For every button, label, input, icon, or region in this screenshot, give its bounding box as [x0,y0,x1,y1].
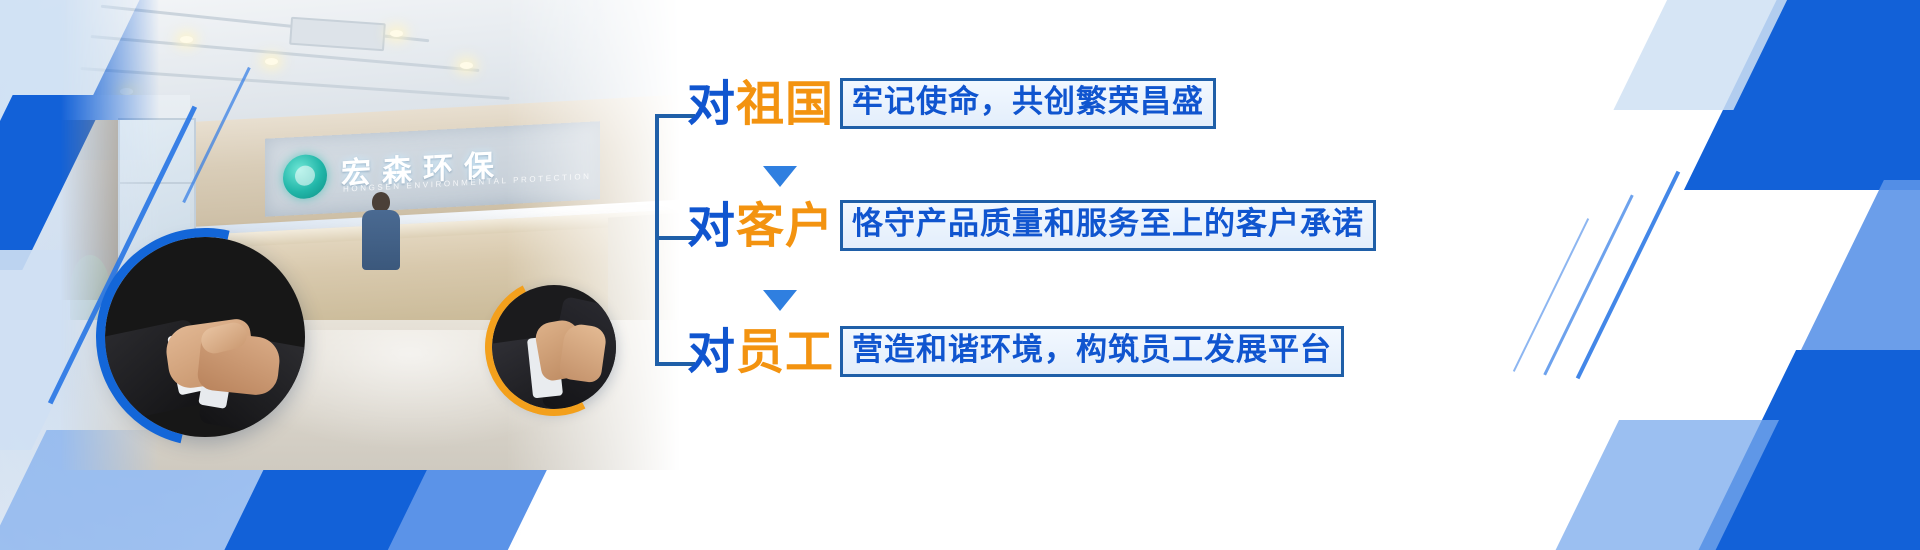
decor-polygon-midblue-bottom [373,470,547,550]
handshake-photo-bubble [105,237,305,437]
value-statement-employee: 营造和谐环境，构筑员工发展平台 [852,332,1332,368]
value-statement-customer: 恪守产品质量和服务至上的客户承诺 [852,206,1364,242]
photo-receptionist-head [372,192,390,212]
value-prefix-country: 对 [687,80,736,128]
photo-receptionist [360,192,402,270]
value-statement-box-country: 牢记使命，共创繁荣昌盛 [840,78,1216,129]
down-arrow-icon [763,166,797,187]
value-prefix-employee: 对 [687,328,736,376]
applause-hand-right [558,322,607,383]
decor-polygon-right-top-blue [1684,0,1920,190]
decor-right-line-2 [1543,194,1633,375]
photo-plant [70,255,110,325]
photo-downlight [120,88,133,95]
value-row-customer: 对客户 恪守产品质量和服务至上的客户承诺 [687,200,1376,251]
photo-downlight [390,30,403,37]
value-target-country: 祖国 [736,80,834,128]
company-logo-icon [283,154,327,200]
decor-right-line-3 [1513,218,1589,372]
photo-downlight [265,58,278,65]
company-values-banner: 宏森环保 HONGSEN ENVIRONMENTAL PROTECTION [0,0,1920,550]
decor-right-line-1 [1576,171,1680,379]
decor-polygon-right-mid [1796,180,1920,360]
value-statement-box-customer: 恪守产品质量和服务至上的客户承诺 [840,200,1376,251]
decor-polygon-right-bottom-blue [1684,350,1920,550]
value-prefix-customer: 对 [687,202,736,250]
bracket-spine [655,116,659,364]
values-content-block: 对祖国 牢记使命，共创繁荣昌盛 对客户 恪守产品质量和服务至上的客户承诺 对员工… [655,78,1395,398]
value-row-employee: 对员工 营造和谐环境，构筑员工发展平台 [687,326,1344,377]
decor-polygon-right-top-pale [1613,0,1806,110]
photo-downlight [460,62,473,69]
photo-downlight [180,36,193,43]
value-target-employee: 员工 [736,328,834,376]
value-statement-country: 牢记使命，共创繁荣昌盛 [852,84,1204,120]
photo-receptionist-body [362,210,400,270]
value-statement-box-employee: 营造和谐环境，构筑员工发展平台 [840,326,1344,377]
applause-photo-bubble [492,285,616,409]
down-arrow-icon [763,290,797,311]
value-row-country: 对祖国 牢记使命，共创繁荣昌盛 [687,78,1216,129]
value-target-customer: 客户 [736,202,834,250]
decor-polygon-right-bottom-pale [1541,420,1779,550]
